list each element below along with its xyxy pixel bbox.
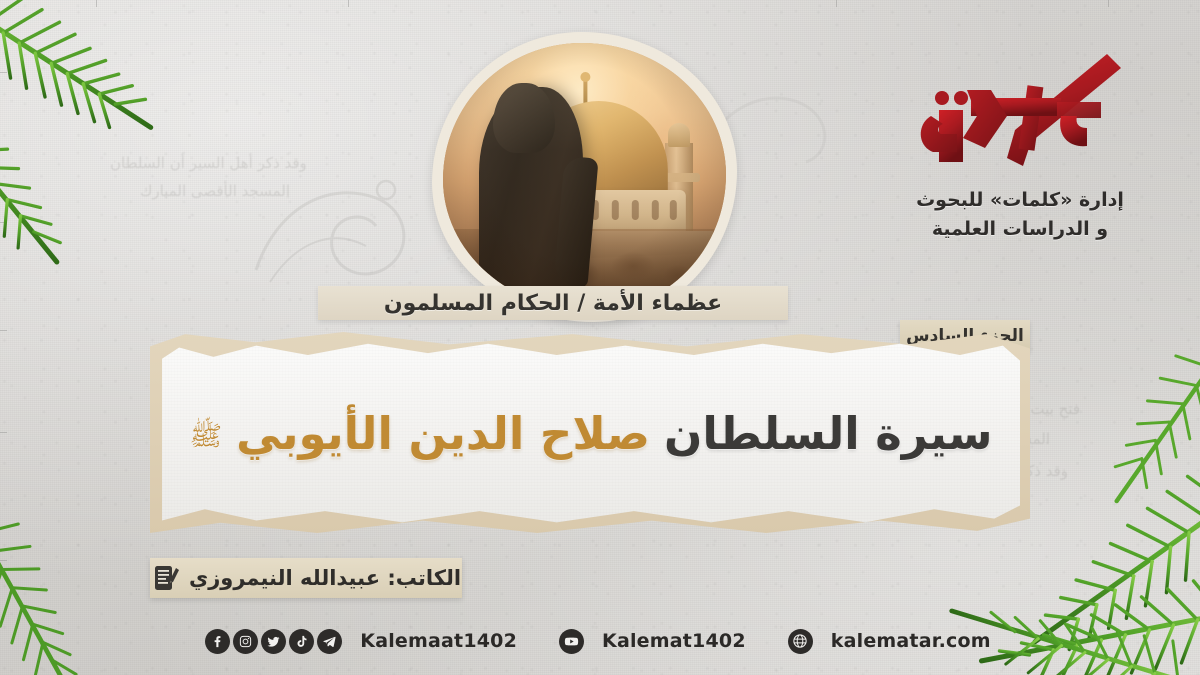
arabesque-ornament-icon bbox=[236, 150, 426, 300]
telegram-icon[interactable] bbox=[317, 629, 342, 654]
hero-illustration bbox=[443, 43, 726, 311]
hero-image-container bbox=[443, 43, 726, 311]
palm-leaf-icon bbox=[0, 0, 279, 283]
document-pen-icon bbox=[151, 563, 181, 593]
author-label: الكاتب: عبيدالله النيمروزي bbox=[189, 566, 461, 590]
palm-leaf-icon bbox=[1016, 331, 1200, 572]
title-block: سيرة السلطان صلاح الدين الأيوبي ﷺ bbox=[162, 340, 1020, 528]
background-ghost-text: المسجد الأقصى المبارك bbox=[140, 182, 290, 200]
author-badge: الكاتب: عبيدالله النيمروزي bbox=[150, 558, 462, 598]
social-footer: Kalemaat1402 Kalemat1402 kalematar.com bbox=[0, 620, 1200, 662]
title-prefix: سيرة السلطان bbox=[664, 409, 992, 459]
category-label: عظماء الأمة / الحكام المسلمون bbox=[318, 286, 788, 320]
brand-subtitle: إدارة «كلمات» للبحوث و الدراسات العلمية bbox=[900, 186, 1140, 243]
social-handle: Kalemaat1402 bbox=[360, 630, 517, 652]
youtube-handle: Kalemat1402 bbox=[602, 630, 746, 652]
brand-logo-block: إدارة «كلمات» للبحوث و الدراسات العلمية bbox=[900, 46, 1140, 243]
brand-subtitle-line-1: إدارة «كلمات» للبحوث bbox=[900, 186, 1140, 215]
tiktok-icon[interactable] bbox=[289, 629, 314, 654]
globe-icon[interactable] bbox=[788, 629, 813, 654]
honorific-calligraphy: ﷺ bbox=[190, 423, 223, 450]
title-highlight: صلاح الدين الأيوبي bbox=[236, 409, 650, 459]
social-icon-group bbox=[205, 629, 342, 654]
twitter-icon[interactable] bbox=[261, 629, 286, 654]
website-label: kalematar.com bbox=[831, 630, 991, 652]
poster-canvas: وقد ذكر أهل السير أن السلطان المسجد الأق… bbox=[0, 0, 1200, 675]
youtube-icon[interactable] bbox=[559, 629, 584, 654]
brand-subtitle-line-2: و الدراسات العلمية bbox=[900, 215, 1140, 244]
kalemaat-wordmark-icon bbox=[900, 46, 1140, 176]
facebook-icon[interactable] bbox=[205, 629, 230, 654]
background-ghost-text: وقد ذكر أهل السير أن السلطان bbox=[110, 154, 307, 172]
instagram-icon[interactable] bbox=[233, 629, 258, 654]
